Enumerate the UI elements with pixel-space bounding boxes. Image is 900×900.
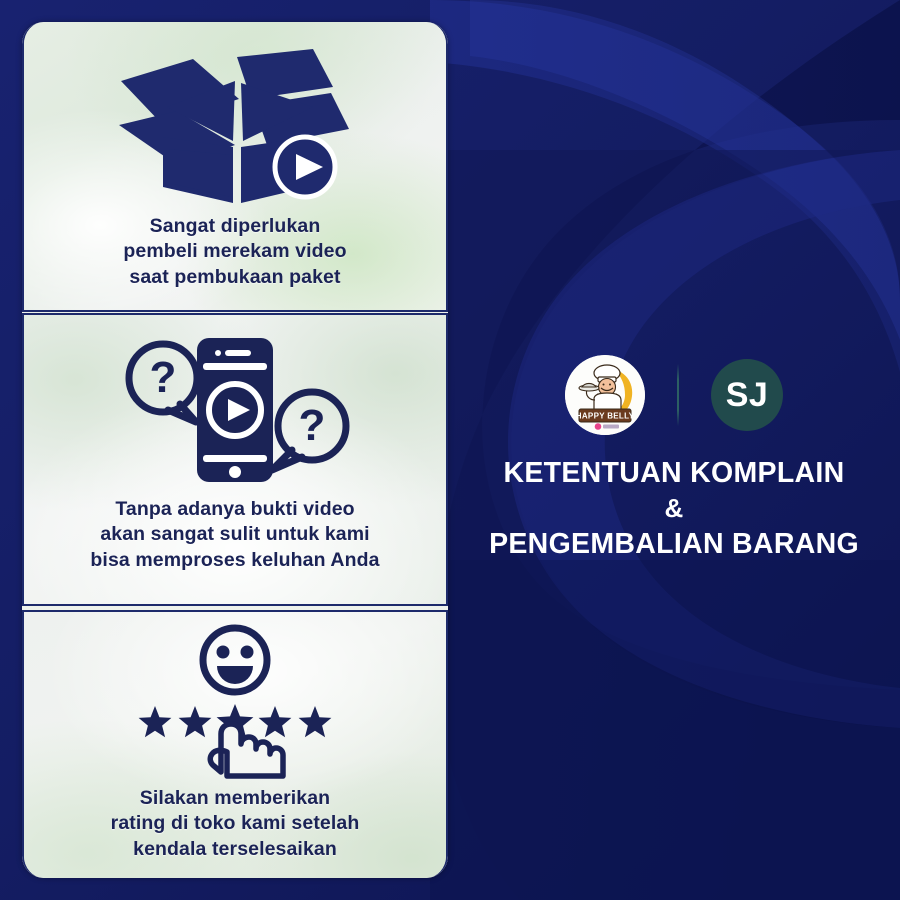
play-button-glyph <box>275 137 335 197</box>
panel-1-caption: Sangat diperlukan pembeli merekam video … <box>123 214 346 290</box>
happy-belly-logo: HAPPY BELLY <box>565 355 645 435</box>
caption-line: akan sangat sulit untuk kami <box>90 522 379 547</box>
question-mark-glyph: ? <box>150 353 177 402</box>
smiley-five-stars-pointing-hand-icon <box>135 624 335 784</box>
caption-line: pembeli merekam video <box>123 239 346 264</box>
happy-belly-wordmark: HAPPY BELLY <box>576 412 635 421</box>
panel-3-caption: Silakan memberikan rating di toko kami s… <box>111 786 360 862</box>
info-card: Sangat diperlukan pembeli merekam video … <box>22 22 448 878</box>
caption-line: Sangat diperlukan <box>123 214 346 239</box>
caption-line: Silakan memberikan <box>111 786 360 811</box>
headline-line-3: PENGEMBALIAN BARANG <box>448 526 900 563</box>
question-mark-glyph: ? <box>299 401 326 450</box>
caption-line: bisa memproses keluhan Anda <box>90 548 379 573</box>
caption-line: Tanpa adanya bukti video <box>90 497 379 522</box>
smiley-face-glyph <box>203 628 267 692</box>
panel-2-caption: Tanpa adanya bukti video akan sangat sul… <box>90 497 379 573</box>
headline-line-1: KETENTUAN KOMPLAIN <box>448 455 900 492</box>
headline-line-2: & <box>448 492 900 526</box>
caption-line: kendala terselesaikan <box>111 837 360 862</box>
caption-line: rating di toko kami setelah <box>111 811 360 836</box>
brand-divider <box>677 364 679 426</box>
caption-line: saat pembukaan paket <box>123 265 346 290</box>
open-box-with-play-button-icon <box>117 38 353 208</box>
right-content-column: HAPPY BELLY SJ KETENTUAN KOMPLAIN & PENG… <box>448 0 900 900</box>
page-title: KETENTUAN KOMPLAIN & PENGEMBALIAN BARANG <box>448 455 900 563</box>
panel-video-required: Sangat diperlukan pembeli merekam video … <box>22 22 448 312</box>
panel-no-proof: ? ? <box>22 313 448 606</box>
smartphone-glyph <box>197 338 273 482</box>
smartphone-video-with-question-bubbles-icon: ? ? <box>110 329 360 491</box>
panel-rating-request: Silakan memberikan rating di toko kami s… <box>22 610 448 878</box>
brand-row: HAPPY BELLY SJ <box>448 352 900 438</box>
sj-logo: SJ <box>711 359 783 431</box>
sj-logo-text: SJ <box>726 378 769 412</box>
